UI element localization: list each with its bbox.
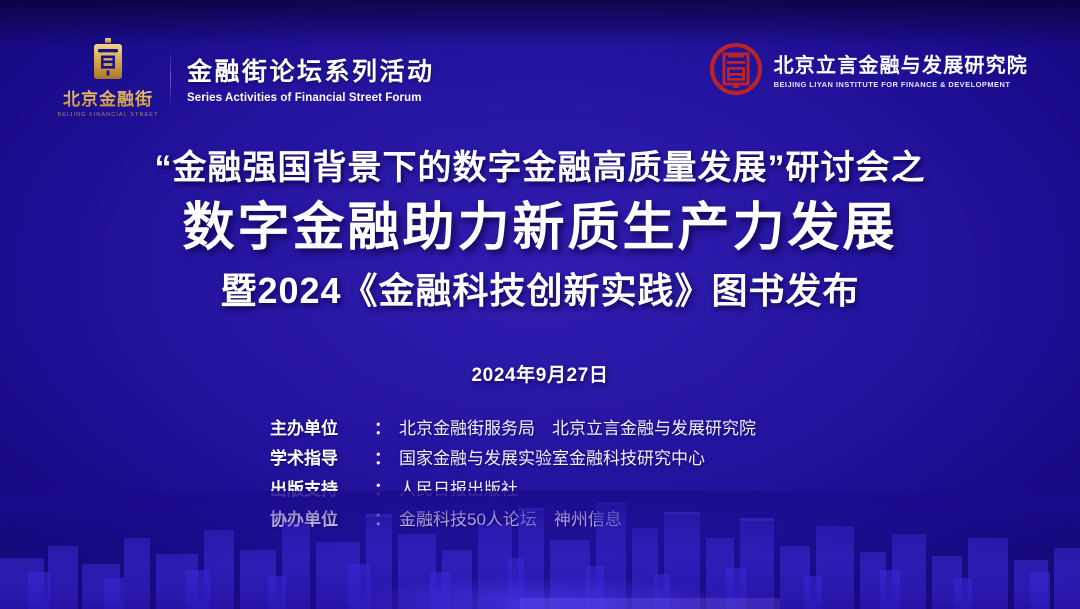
event-date: 2024年9月27日 bbox=[0, 360, 1080, 387]
logo-divider bbox=[170, 49, 171, 107]
credit-row-organizer: 主办单位 ： 北京金融街服务局 北京立言金融与发展研究院 bbox=[270, 418, 810, 439]
title-line-1: “金融强国背景下的数字金融高质量发展”研讨会之 bbox=[0, 148, 1080, 188]
credit-value: 人民日报出版社 bbox=[399, 479, 810, 500]
credits-block: 主办单位 ： 北京金融街服务局 北京立言金融与发展研究院 学术指导 ： 国家金融… bbox=[0, 418, 1080, 539]
credit-label: 学术指导 bbox=[270, 448, 374, 469]
forum-title-block: 金融街论坛系列活动 Series Activities of Financial… bbox=[187, 52, 435, 104]
bfs-english-name: BEIJING FINANCIAL STREET bbox=[57, 112, 158, 118]
poster-title-group: “金融强国背景下的数字金融高质量发展”研讨会之 数字金融助力新质生产力发展 暨2… bbox=[0, 148, 1080, 312]
title-line-3-book-launch: 暨2024《金融科技创新实践》图书发布 bbox=[0, 270, 1080, 311]
credit-label: 主办单位 bbox=[270, 418, 374, 439]
forum-title-cn: 金融街论坛系列活动 bbox=[187, 52, 435, 88]
credit-label: 协办单位 bbox=[270, 509, 374, 530]
credit-value: 国家金融与发展实验室金融科技研究中心 bbox=[399, 448, 810, 469]
beijing-financial-street-logo: 北京金融街 BEIJING FINANCIAL STREET bbox=[62, 38, 154, 118]
poster-header: 北京金融街 BEIJING FINANCIAL STREET 金融街论坛系列活动… bbox=[0, 36, 1080, 128]
credit-row-publishing-support: 出版支持 ： 人民日报出版社 bbox=[270, 479, 810, 500]
beijing-financial-street-seal-icon bbox=[88, 38, 128, 82]
credit-value: 金融科技50人论坛 神州信息 bbox=[399, 509, 810, 530]
credit-label: 出版支持 bbox=[270, 479, 374, 500]
credit-row-academic-guidance: 学术指导 ： 国家金融与发展实验室金融科技研究中心 bbox=[270, 448, 810, 469]
credit-row-co-organizer: 协办单位 ： 金融科技50人论坛 神州信息 bbox=[270, 509, 810, 530]
liyan-institute-seal-icon bbox=[709, 42, 763, 96]
city-glow-floor bbox=[330, 575, 750, 609]
forum-title-en: Series Activities of Financial Street Fo… bbox=[187, 92, 435, 104]
credit-colon: ： bbox=[374, 418, 391, 439]
event-poster: 北京金融街 BEIJING FINANCIAL STREET 金融街论坛系列活动… bbox=[0, 0, 1080, 609]
liyan-text-block: 北京立言金融与发展研究院 BEIJING LIYAN INSTITUTE FOR… bbox=[774, 49, 1028, 89]
liyan-english-name: BEIJING LIYAN INSTITUTE FOR FINANCE & DE… bbox=[774, 80, 1028, 89]
credit-colon: ： bbox=[374, 479, 391, 500]
liyan-institute-logo: 北京立言金融与发展研究院 BEIJING LIYAN INSTITUTE FOR… bbox=[709, 42, 1028, 96]
bfs-chinese-name: 北京金融街 bbox=[63, 85, 153, 110]
title-line-2-main: 数字金融助力新质生产力发展 bbox=[0, 200, 1080, 257]
credit-colon: ： bbox=[374, 448, 391, 469]
credit-value: 北京金融街服务局 北京立言金融与发展研究院 bbox=[399, 418, 810, 439]
liyan-chinese-name: 北京立言金融与发展研究院 bbox=[774, 49, 1028, 78]
financial-street-forum-logo: 北京金融街 BEIJING FINANCIAL STREET 金融街论坛系列活动… bbox=[62, 38, 435, 118]
credit-colon: ： bbox=[374, 509, 391, 530]
